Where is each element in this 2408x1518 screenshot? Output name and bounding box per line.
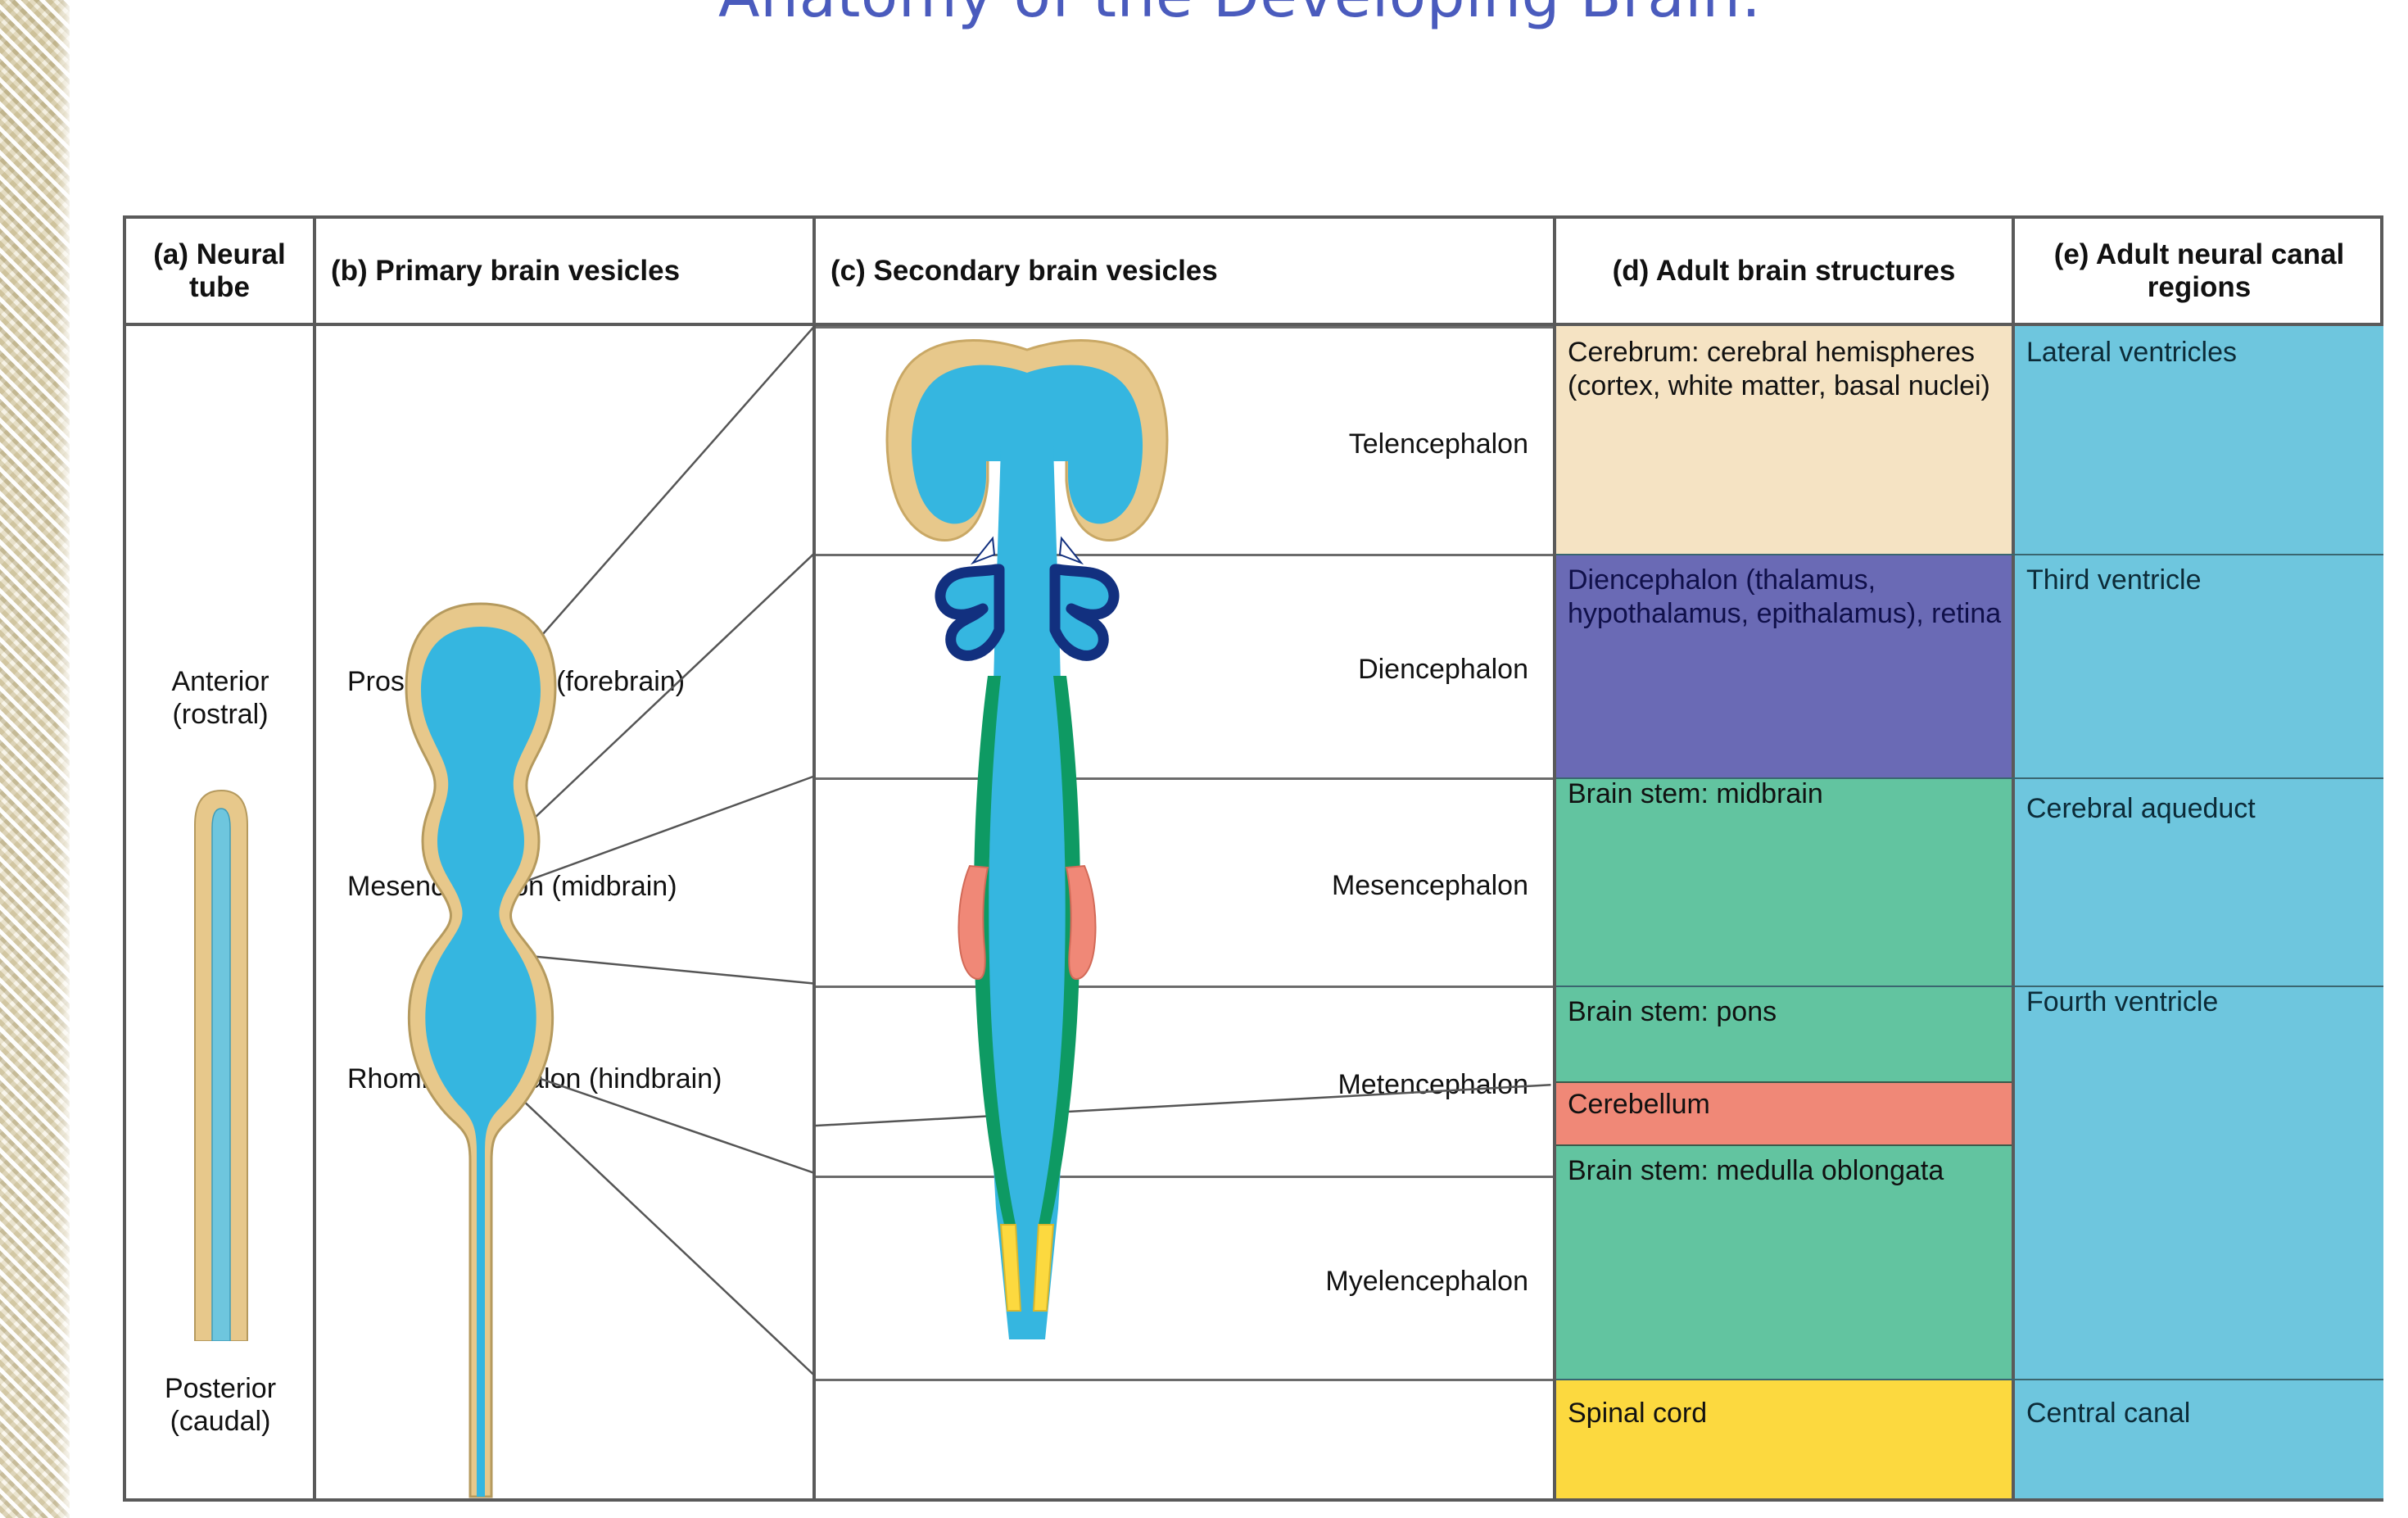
label-mesencephalon-secondary-text: Mesencephalon	[1332, 869, 1528, 902]
label-metencephalon-text: Metencephalon	[1338, 1068, 1528, 1101]
cell-canal-cerebral-aqueduct-label: Cerebral aqueduct	[2026, 793, 2256, 824]
neural-tube-diagram	[190, 784, 252, 1341]
label-anterior-rostral-text: Anterior (rostral)	[171, 666, 269, 730]
cell-canal-fourth-ventricle: Fourth ventricle	[2015, 986, 2383, 1379]
rule-de-6	[1556, 1379, 2383, 1380]
cerebellum-right-lobe	[1066, 866, 1096, 979]
rule-de-2	[1556, 777, 2383, 779]
cerebellum-left-lobe	[959, 866, 989, 979]
cell-canal-third-ventricle: Third ventricle	[2015, 554, 2383, 777]
header-neural-tube: (a) Neural tube	[126, 219, 313, 323]
cell-adult-pons-label: Brain stem: pons	[1568, 996, 1777, 1027]
column-divider-b-c	[812, 219, 816, 1498]
neural-tube-lumen	[212, 809, 230, 1341]
telencephalon-pointer-right	[1060, 538, 1081, 563]
brain-development-table: (a) Neural tube (b) Primary brain vesicl…	[123, 215, 2383, 1502]
header-adult-neural-canal-regions: (e) Adult neural canal regions	[2015, 219, 2383, 323]
cell-adult-cerebrum: Cerebrum: cerebral hemispheres (cortex, …	[1556, 326, 2012, 554]
cell-canal-lateral-ventricles-label: Lateral ventricles	[2026, 337, 2237, 368]
cell-adult-diencephalon-label: Diencephalon (thalamus, hypothalamus, ep…	[1568, 564, 2001, 629]
cell-adult-spinal-cord: Spinal cord	[1556, 1379, 2012, 1498]
label-myelencephalon-text: Myelencephalon	[1325, 1265, 1528, 1298]
cell-canal-cerebral-aqueduct: Cerebral aqueduct	[2015, 777, 2383, 986]
cell-canal-third-ventricle-label: Third ventricle	[2026, 564, 2202, 596]
cell-canal-central-canal: Central canal	[2015, 1379, 2383, 1498]
page-title: Anatomy of the Developing Brain:	[72, 0, 2408, 31]
cell-canal-central-canal-label: Central canal	[2026, 1398, 2190, 1429]
label-metencephalon: Metencephalon	[1166, 986, 1541, 1176]
diencephalon-right-horn	[1055, 569, 1114, 655]
label-myelencephalon: Myelencephalon	[1166, 1176, 1541, 1379]
cell-adult-medulla-label: Brain stem: medulla oblongata	[1568, 1155, 1944, 1186]
label-diencephalon-text: Diencephalon	[1358, 653, 1528, 686]
rule-de-1	[1556, 554, 2383, 555]
rule-de-3	[1556, 986, 2383, 987]
header-adult-brain-structures: (d) Adult brain structures	[1556, 219, 2012, 323]
cell-adult-pons: Brain stem: pons	[1556, 986, 2012, 1081]
rule-d-4	[1556, 1081, 2012, 1083]
label-telencephalon-text: Telencephalon	[1349, 428, 1528, 460]
cell-adult-midbrain-label: Brain stem: midbrain	[1568, 778, 1823, 809]
cell-canal-fourth-ventricle-label: Fourth ventricle	[2026, 986, 2218, 1017]
rule-d-5	[1556, 1144, 2012, 1146]
label-posterior-caudal: Posterior (caudal)	[126, 1364, 313, 1438]
cell-adult-spinal-cord-label: Spinal cord	[1568, 1398, 1707, 1429]
cell-canal-lateral-ventricles: Lateral ventricles	[2015, 326, 2383, 554]
cell-adult-cerebrum-label: Cerebrum: cerebral hemispheres (cortex, …	[1568, 337, 1990, 401]
primary-brain-vesicles-diagram	[387, 596, 575, 1505]
cell-adult-cerebellum-label: Cerebellum	[1568, 1089, 1710, 1120]
table-header-row: (a) Neural tube (b) Primary brain vesicl…	[126, 219, 2380, 323]
label-anterior-rostral: Anterior (rostral)	[126, 657, 313, 731]
diencephalon-left-horn	[940, 569, 999, 655]
label-posterior-caudal-text: Posterior (caudal)	[165, 1373, 276, 1437]
label-telencephalon: Telencephalon	[1166, 326, 1541, 554]
header-primary-brain-vesicles: (b) Primary brain vesicles	[316, 219, 812, 323]
cell-adult-medulla: Brain stem: medulla oblongata	[1556, 1144, 2012, 1379]
label-diencephalon: Diencephalon	[1166, 554, 1541, 777]
telencephalon-pointer-left	[973, 538, 994, 563]
cell-adult-diencephalon: Diencephalon (thalamus, hypothalamus, ep…	[1556, 554, 2012, 777]
column-divider-a-b	[313, 219, 316, 1498]
cell-adult-cerebellum: Cerebellum	[1556, 1081, 2012, 1144]
decorative-border-fade	[56, 0, 72, 1518]
header-secondary-brain-vesicles: (c) Secondary brain vesicles	[816, 219, 1553, 323]
label-mesencephalon-secondary: Mesencephalon	[1166, 777, 1541, 986]
cell-adult-midbrain: Brain stem: midbrain	[1556, 777, 2012, 986]
secondary-brain-vesicles-diagram	[863, 324, 1191, 1389]
